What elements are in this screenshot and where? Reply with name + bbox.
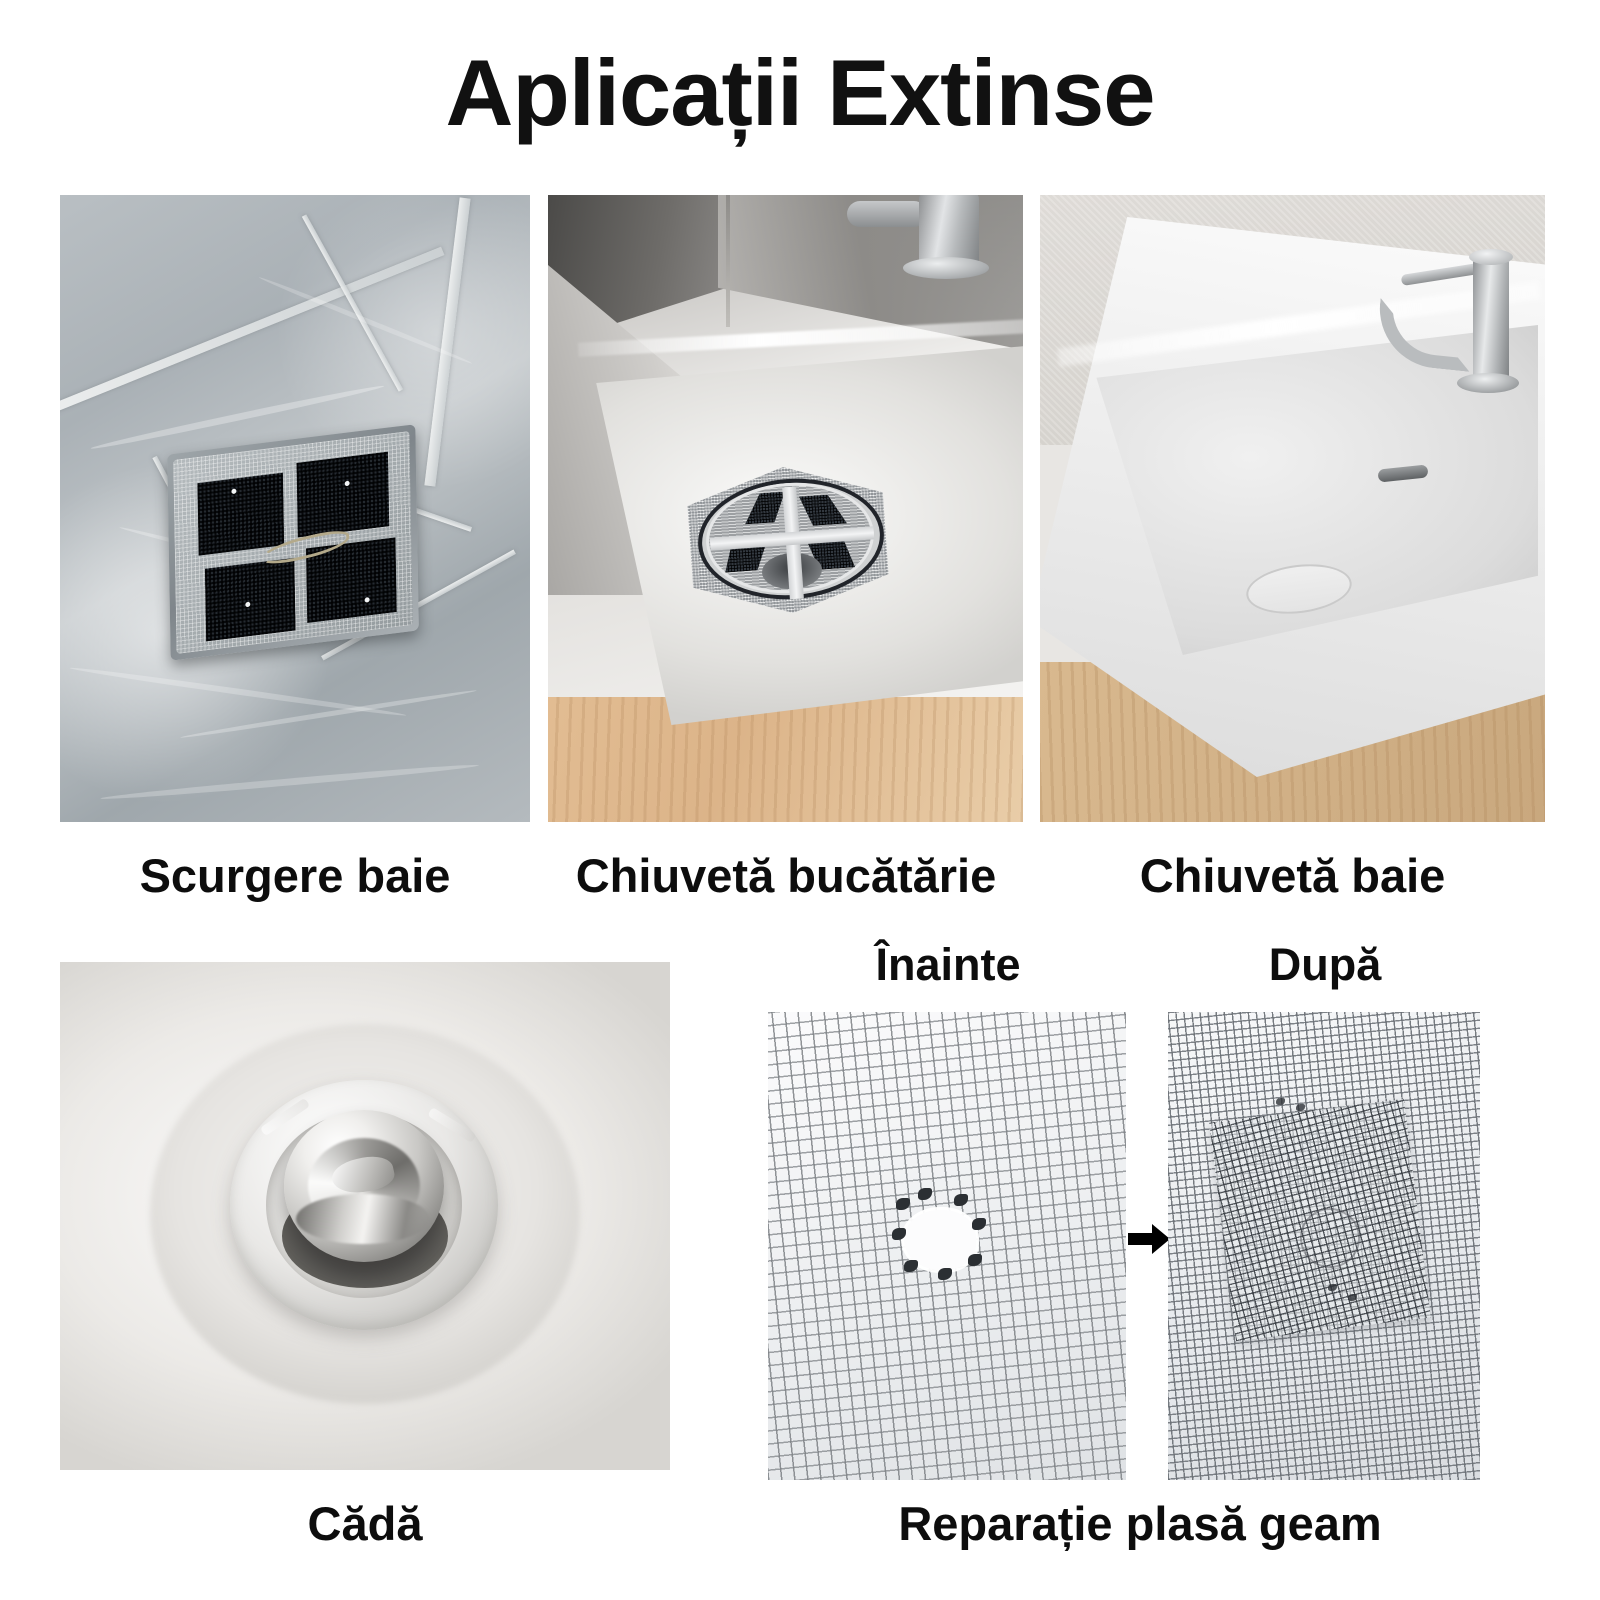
marble-vein <box>180 688 477 740</box>
faucet-base-plate <box>1457 373 1519 393</box>
bathtub-drain-photo <box>60 962 670 1470</box>
mesh-quadrant <box>205 558 296 641</box>
caption-bathroom-sink: Chiuvetă baie <box>1040 852 1545 899</box>
mesh-before-photo <box>768 1012 1126 1480</box>
drain-cover-plate <box>167 424 419 661</box>
right-arrow-icon <box>1128 1222 1170 1256</box>
frayed-fiber <box>918 1188 932 1200</box>
mesh-after-photo <box>1168 1012 1480 1480</box>
mesh-debris <box>1276 1098 1285 1105</box>
mesh-filter-pad <box>173 431 413 654</box>
caption-bathroom-floor-drain: Scurgere baie <box>60 852 530 899</box>
marble-vein <box>100 762 479 802</box>
extended-applications-infographic: Aplicații Extinse <box>0 0 1600 1600</box>
label-after: După <box>1180 942 1470 987</box>
caption-window-screen-repair: Reparație plasă geam <box>740 1500 1540 1547</box>
bathroom-floor-drain-photo <box>60 195 530 822</box>
frayed-fiber <box>896 1198 910 1210</box>
faucet-arm <box>847 201 927 227</box>
bathroom-sink-photo <box>1040 195 1545 822</box>
frayed-fiber <box>954 1194 968 1206</box>
mesh-quadrant <box>197 473 284 556</box>
faucet-cap <box>1469 249 1513 265</box>
caption-bathtub: Cădă <box>60 1500 670 1547</box>
kitchen-sink-photo <box>548 195 1023 822</box>
caption-kitchen-sink: Chiuvetă bucătărie <box>540 852 1032 899</box>
frayed-fiber <box>904 1260 918 1272</box>
faucet-base <box>903 257 989 279</box>
chrome-sheen <box>296 1194 430 1244</box>
faucet-stem <box>1473 257 1509 387</box>
sink-corner-seam <box>726 195 730 327</box>
page-title: Aplicații Extinse <box>0 44 1600 143</box>
marble-vein <box>258 275 473 366</box>
tile-grout-line <box>424 197 470 486</box>
frayed-fiber <box>968 1254 982 1266</box>
mesh-quadrant <box>297 452 390 538</box>
mesh-debris <box>1296 1104 1305 1111</box>
label-before: Înainte <box>808 942 1088 987</box>
frayed-fiber <box>938 1268 952 1280</box>
frayed-fiber <box>972 1218 986 1230</box>
